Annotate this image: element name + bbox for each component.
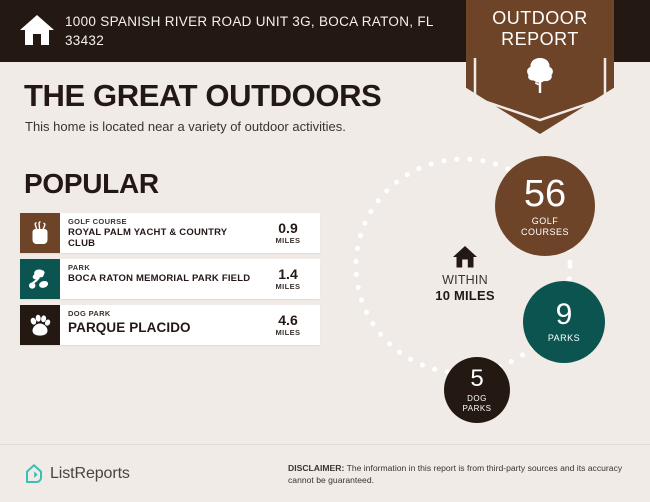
list-item-name: ROYAL PALM YACHT & COUNTRY CLUB [68,227,256,249]
distance-unit: MILES [276,282,301,292]
list-item-body: PARK BOCA RATON MEMORIAL PARK FIELD [60,259,260,299]
list-item[interactable]: DOG PARK PARQUE PLACIDO 4.6 MILES [20,305,320,345]
listreports-wordmark: ListReports [50,465,130,483]
list-item[interactable]: PARK BOCA RATON MEMORIAL PARK FIELD 1.4 … [20,259,320,299]
tree-park-icon [20,259,60,299]
list-item-distance: 4.6 MILES [260,305,320,345]
distance-value: 1.4 [278,267,297,282]
stat-label-line1: GOLF [521,216,569,227]
popular-heading: POPULAR [24,168,159,200]
diagram-center-marker: WITHIN 10 MILES [405,245,525,303]
stat-value: 56 [524,175,566,213]
list-item-category: GOLF COURSE [68,217,256,227]
list-item-name: BOCA RATON MEMORIAL PARK FIELD [68,273,256,284]
distance-value: 4.6 [278,313,297,328]
badge-title-line2: REPORT [466,29,614,50]
badge-title-line1: OUTDOOR [466,8,614,29]
house-icon [19,13,55,47]
stat-value: 5 [470,367,483,391]
stat-bubble-parks[interactable]: 9 PARKS [523,281,605,363]
stat-label: GOLF COURSES [521,216,569,238]
stat-label-line2: PARKS [462,404,491,414]
outdoor-stats-diagram: 56 GOLF COURSES 9 PARKS 5 DOG PARKS WITH… [350,150,640,440]
stat-label-line1: PARKS [548,333,580,344]
distance-unit: MILES [276,328,301,338]
stat-bubble-dog-parks[interactable]: 5 DOG PARKS [444,357,510,423]
listreports-house-icon [24,463,44,484]
radius-label: 10 MILES [405,288,525,303]
list-item-name: PARQUE PLACIDO [68,319,256,336]
golf-bag-icon [20,213,60,253]
paw-print-icon [20,305,60,345]
listreports-logo[interactable]: ListReports [24,463,130,484]
disclaimer-label: DISCLAIMER: [288,463,344,473]
list-item-body: DOG PARK PARQUE PLACIDO [60,305,260,345]
list-item-distance: 0.9 MILES [260,213,320,253]
stat-value: 9 [556,300,573,330]
badge-title: OUTDOOR REPORT [466,8,614,50]
stat-label: DOG PARKS [462,394,491,413]
footer-divider [0,444,650,445]
list-item[interactable]: GOLF COURSE ROYAL PALM YACHT & COUNTRY C… [20,213,320,253]
list-item-category: DOG PARK [68,309,256,319]
distance-value: 0.9 [278,221,297,236]
page-title: THE GREAT OUTDOORS [24,78,381,114]
within-label: WITHIN [405,273,525,288]
tree-icon [524,56,556,94]
list-item-distance: 1.4 MILES [260,259,320,299]
stat-label-line2: COURSES [521,227,569,238]
outdoor-report-page: 1000 SPANISH RIVER ROAD UNIT 3G, BOCA RA… [0,0,650,502]
stat-bubble-golf-courses[interactable]: 56 GOLF COURSES [495,156,595,256]
stat-label: PARKS [548,333,580,344]
list-item-category: PARK [68,263,256,273]
house-icon [452,245,478,269]
disclaimer: DISCLAIMER: The information in this repo… [288,463,638,486]
popular-list: GOLF COURSE ROYAL PALM YACHT & COUNTRY C… [20,213,320,351]
page-subtitle: This home is located near a variety of o… [25,119,346,134]
outdoor-report-badge: OUTDOOR REPORT [466,0,614,134]
property-address: 1000 SPANISH RIVER ROAD UNIT 3G, BOCA RA… [65,12,445,50]
distance-unit: MILES [276,236,301,246]
list-item-body: GOLF COURSE ROYAL PALM YACHT & COUNTRY C… [60,213,260,253]
stat-label-line1: DOG [462,394,491,404]
